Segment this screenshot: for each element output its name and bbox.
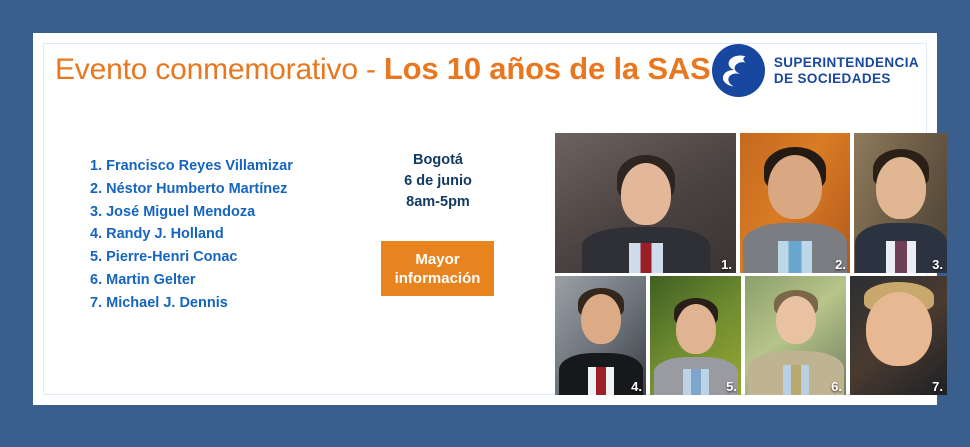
cta-line-1: Mayor xyxy=(415,250,459,269)
organization-logo: SUPERINTENDENCIA DE SOCIEDADES xyxy=(712,44,919,97)
banner-card: Evento conmemorativo - Los 10 años de la… xyxy=(33,33,937,405)
speaker-photo-4[interactable]: 4. xyxy=(555,276,646,395)
photo-number: 6. xyxy=(831,379,842,394)
event-banner: Evento conmemorativo - Los 10 años de la… xyxy=(0,0,970,447)
event-date: 6 de junio xyxy=(381,171,495,192)
photo-number: 5. xyxy=(726,379,737,394)
list-item: 1. Francisco Reyes Villamizar xyxy=(90,155,350,178)
page-title: Evento conmemorativo - Los 10 años de la… xyxy=(55,51,710,87)
logo-line-1: SUPERINTENDENCIA xyxy=(774,55,919,71)
list-item: 2. Néstor Humberto Martínez xyxy=(90,178,350,201)
speaker-photo-1[interactable]: 1. xyxy=(555,133,736,273)
event-city: Bogotá xyxy=(381,150,495,171)
list-item: 6. Martin Gelter xyxy=(90,269,350,292)
title-strong: Los 10 años de la SAS xyxy=(384,51,711,86)
photo-number: 3. xyxy=(932,257,943,272)
logo-line-2: DE SOCIEDADES xyxy=(774,71,919,87)
event-time: 8am-5pm xyxy=(381,192,495,213)
speaker-photo-grid: 1. 2. 3. xyxy=(555,133,947,395)
speaker-photo-7[interactable]: 7. xyxy=(850,276,947,395)
speaker-list: 1. Francisco Reyes Villamizar 2. Néstor … xyxy=(90,155,350,315)
photo-number: 4. xyxy=(631,379,642,394)
list-item: 4. Randy J. Holland xyxy=(90,223,350,246)
title-lead: Evento conmemorativo xyxy=(55,53,358,86)
photo-number: 2. xyxy=(835,257,846,272)
list-item: 7. Michael J. Dennis xyxy=(90,292,350,315)
photo-number: 1. xyxy=(721,257,732,272)
superintendencia-logo-icon xyxy=(712,44,765,97)
speaker-photo-5[interactable]: 5. xyxy=(650,276,741,395)
event-details: Bogotá 6 de junio 8am-5pm xyxy=(381,150,495,213)
organization-name: SUPERINTENDENCIA DE SOCIEDADES xyxy=(774,55,919,87)
speaker-photo-3[interactable]: 3. xyxy=(854,133,947,273)
title-dash: - xyxy=(358,53,384,86)
more-information-button[interactable]: Mayor información xyxy=(381,241,494,296)
speaker-photo-2[interactable]: 2. xyxy=(740,133,850,273)
list-item: 5. Pierre-Henri Conac xyxy=(90,246,350,269)
photo-number: 7. xyxy=(932,379,943,394)
banner-header: Evento conmemorativo - Los 10 años de la… xyxy=(55,41,925,115)
cta-line-2: información xyxy=(395,269,481,288)
speaker-photo-6[interactable]: 6. xyxy=(745,276,846,395)
list-item: 3. José Miguel Mendoza xyxy=(90,201,350,224)
